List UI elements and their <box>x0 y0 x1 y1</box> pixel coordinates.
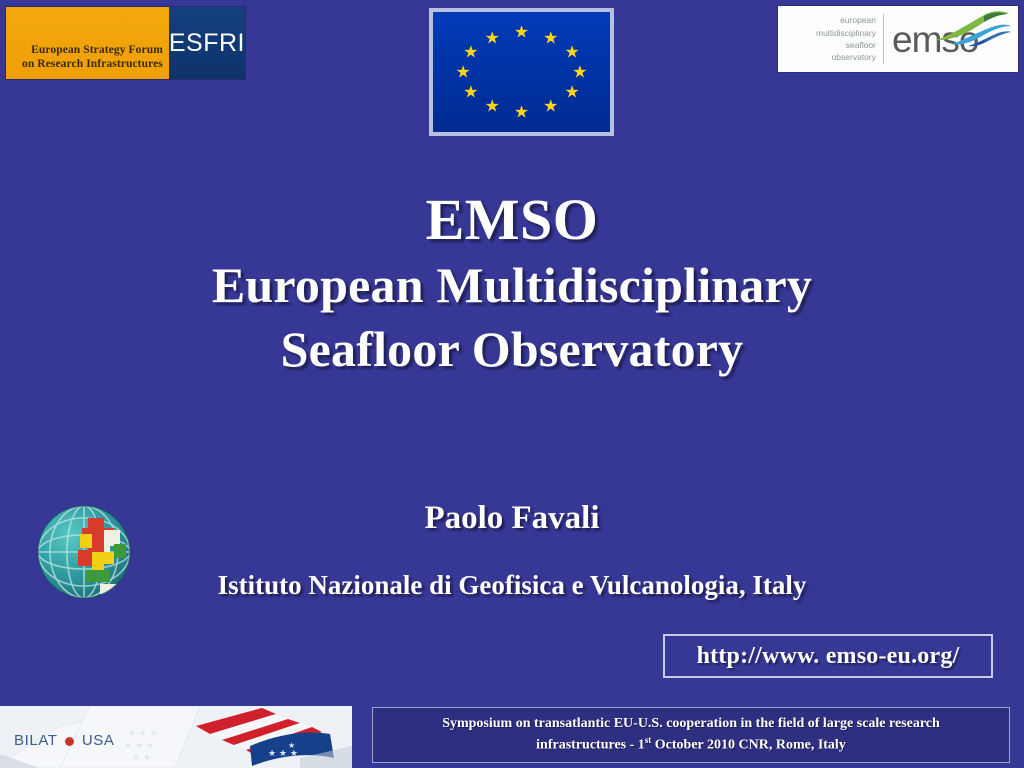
esfri-fullname: European Strategy Forum on Research Infr… <box>14 43 163 71</box>
svg-text:★ ★ ★: ★ ★ ★ <box>128 729 158 739</box>
eu-flag-field <box>433 12 610 132</box>
svg-text:★ ★ ★: ★ ★ ★ <box>268 749 298 759</box>
symposium-line1: Symposium on transatlantic EU-U.S. coope… <box>442 716 940 731</box>
website-url-box[interactable]: http://www. emso-eu.org/ <box>663 634 993 678</box>
european-union-flag <box>429 8 614 136</box>
emso-logo: european multidisciplinary seafloor obse… <box>778 6 1018 72</box>
emso-tagline-line3: seafloor <box>778 39 876 51</box>
symposium-caption-box: Symposium on transatlantic EU-U.S. coope… <box>372 707 1010 763</box>
esfri-fullname-line2: on Research Infrastructures <box>14 57 163 71</box>
svg-text:★ ★ ★: ★ ★ ★ <box>124 741 154 751</box>
emso-tagline-line1: european <box>778 14 876 26</box>
symposium-line2-suffix: October 2010 CNR, Rome, Italy <box>651 738 846 753</box>
presentation-slide: European Strategy Forum on Research Infr… <box>0 0 1024 768</box>
bilat-label-right: USA <box>82 732 115 749</box>
bilat-usa-banner: ★ ★ ★ ★ ★ ★ ★ ★ ★ ★ ★ ★ BILAT <box>0 706 352 768</box>
bilat-label-left: BILAT <box>14 732 57 749</box>
esfri-acronym: ESFRI <box>169 29 245 58</box>
bilat-dot-icon <box>65 737 74 746</box>
title-acronym: EMSO <box>0 188 1024 253</box>
emso-tagline-line4: observatory <box>778 51 876 63</box>
slide-title-block: EMSO European Multidisciplinary Seafloor… <box>0 188 1024 381</box>
esfri-logo: European Strategy Forum on Research Infr… <box>6 7 245 79</box>
symposium-line2-prefix: infrastructures - 1 <box>536 738 645 753</box>
esfri-orange-panel: European Strategy Forum on Research Infr… <box>6 7 169 79</box>
website-url-text[interactable]: http://www. emso-eu.org/ <box>697 643 960 670</box>
author-name: Paolo Favali <box>0 500 1024 537</box>
svg-text:★ ★: ★ ★ <box>132 753 151 763</box>
emso-swoosh-icon <box>934 10 1012 48</box>
author-affiliation: Istituto Nazionale di Geofisica e Vulcan… <box>0 570 1024 601</box>
bilat-usa-label: BILAT USA <box>14 732 115 749</box>
title-line-three: Seafloor Observatory <box>0 317 1024 381</box>
title-line-two: European Multidisciplinary <box>0 253 1024 317</box>
svg-text:★: ★ <box>288 741 295 750</box>
emso-tagline-line2: multidisciplinary <box>778 27 876 39</box>
symposium-caption-text: Symposium on transatlantic EU-U.S. coope… <box>432 714 950 756</box>
esfri-blue-panel: ESFRI <box>169 7 245 79</box>
emso-tagline: european multidisciplinary seafloor obse… <box>778 14 884 63</box>
esfri-fullname-line1: European Strategy Forum <box>14 43 163 57</box>
